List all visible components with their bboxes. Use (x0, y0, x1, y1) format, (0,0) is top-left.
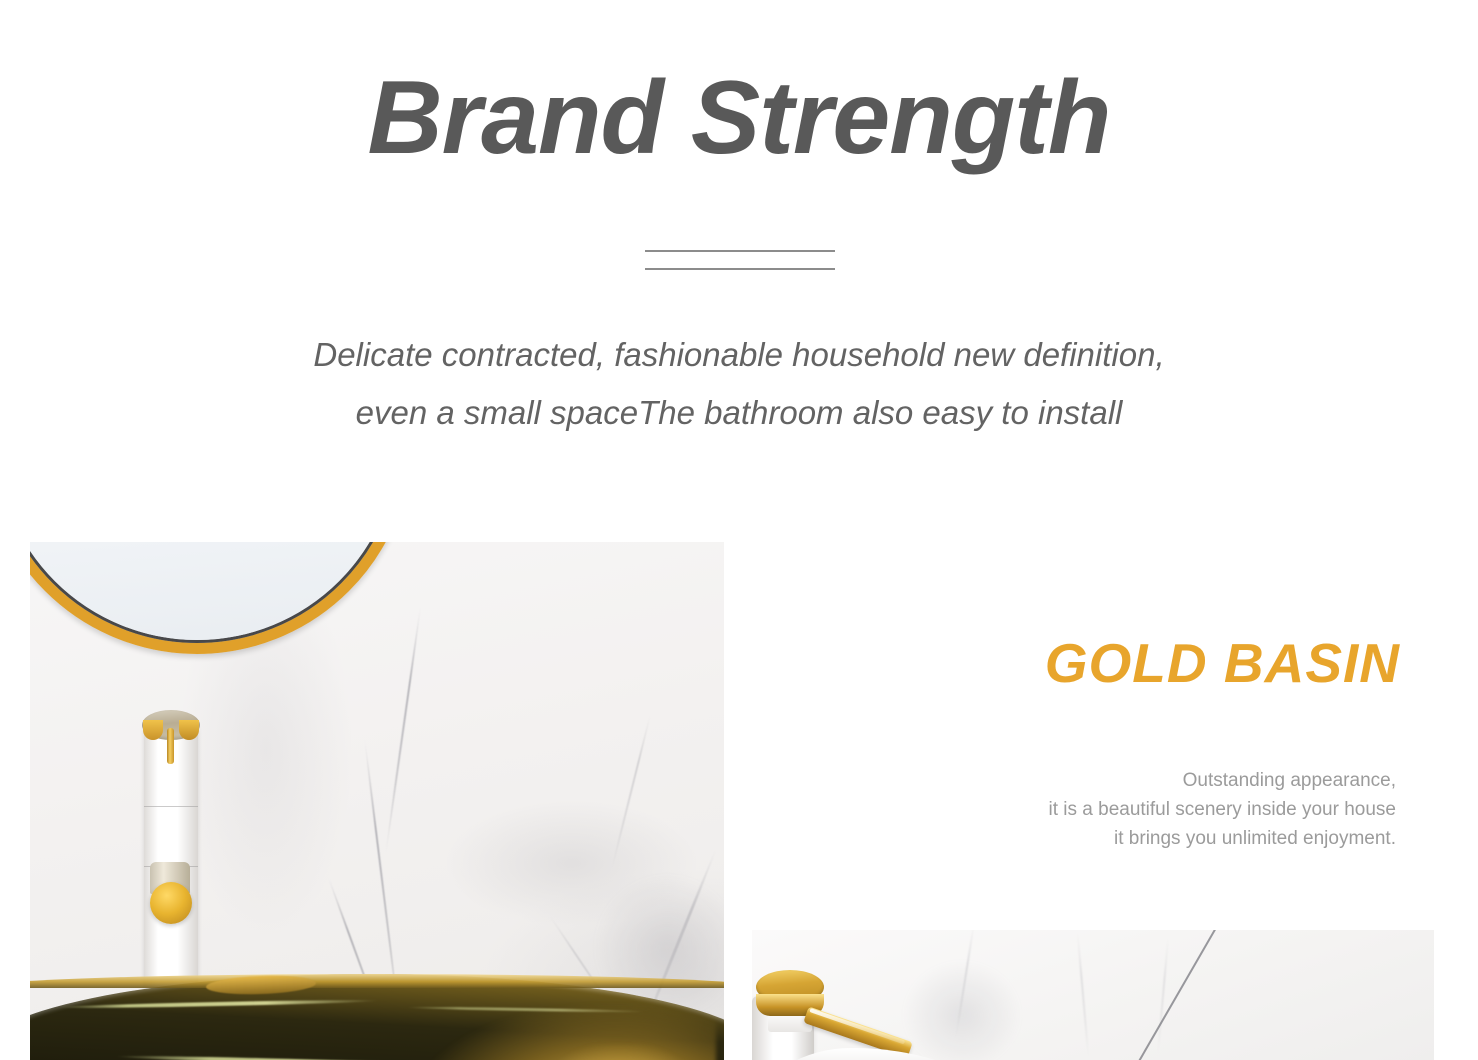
basin-gold-reflection (536, 1044, 706, 1060)
product-photo-left (30, 542, 724, 1060)
description-line-1: Outstanding appearance, (900, 766, 1396, 795)
title-divider (645, 248, 835, 274)
marble-vein (385, 607, 422, 855)
description-line-3: it brings you unlimited enjoyment. (900, 824, 1396, 853)
subtitle-line-1: Delicate contracted, fashionable househo… (0, 326, 1478, 384)
faucet-knob (150, 882, 192, 924)
description-line-2: it is a beautiful scenery inside your ho… (900, 795, 1396, 824)
basin-faucet (134, 690, 208, 1020)
tile-vein (1076, 930, 1089, 1060)
gold-basin-heading: GOLD BASIN (900, 633, 1400, 694)
faucet-seam (144, 806, 198, 807)
tile-vein (1157, 936, 1169, 1056)
faucet-cap-gold-right (179, 720, 199, 740)
gold-vessel-basin (30, 974, 724, 1060)
product-photo-right (752, 930, 1434, 1060)
page-subtitle: Delicate contracted, fashionable househo… (0, 326, 1478, 442)
subtitle-line-2: even a small spaceThe bathroom also easy… (0, 384, 1478, 442)
faucet-lever (167, 728, 174, 764)
gold-basin-description: Outstanding appearance, it is a beautifu… (900, 766, 1396, 853)
marble-vein (611, 714, 652, 870)
divider-line-top (645, 250, 835, 252)
page-title: Brand Strength (0, 62, 1478, 174)
basin-highlight (58, 999, 378, 1010)
divider-line-bottom (645, 268, 835, 270)
basin-faucet-closeup (752, 944, 942, 1060)
faucet-cap-gold-left (143, 720, 163, 740)
